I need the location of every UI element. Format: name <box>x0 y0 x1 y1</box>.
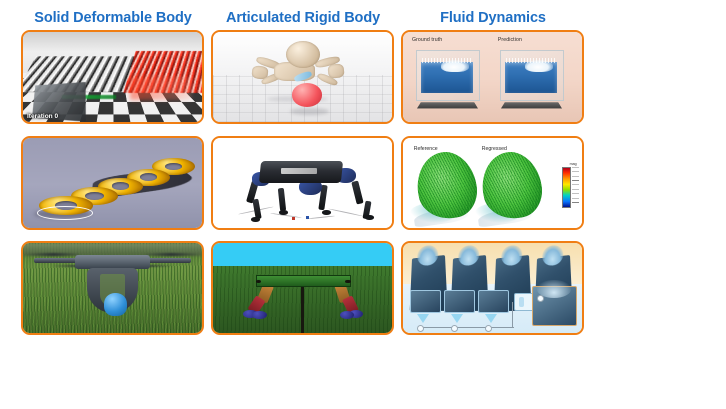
panel-streamline-flow-comparison[interactable]: Reference Regressed mag <box>401 136 584 230</box>
encoder-3-icon <box>485 314 497 323</box>
tank-prediction <box>496 47 568 112</box>
prediction-label: Prediction <box>498 37 522 43</box>
quadruped-foot-4 <box>365 215 374 220</box>
panel-humanoid-ragdoll[interactable] <box>211 30 394 124</box>
tank-scene: Ground truth Prediction <box>403 32 582 122</box>
colorbar-ticks <box>572 167 579 207</box>
tank-base-right <box>501 102 562 108</box>
colorbar <box>562 167 572 209</box>
colorbar-title: mag <box>570 162 577 166</box>
panel-fluid-splash-pipeline[interactable] <box>401 241 584 335</box>
pipeline-link-horizontal <box>421 327 514 328</box>
reference-label: Reference <box>414 146 438 152</box>
tank-ground-truth <box>412 47 484 112</box>
pipeline-input-1 <box>410 290 441 314</box>
rotor-front-right <box>145 253 199 256</box>
column-header-solid-deformable-body: Solid Deformable Body <box>18 9 208 27</box>
pipeline-scene <box>403 243 582 333</box>
contact-marker-red <box>292 217 295 220</box>
torus-target-ring <box>37 206 93 220</box>
panel-grid: Solid Deformable Body Articulated Rigid … <box>0 0 726 409</box>
column-header-articulated-rigid-body: Articulated Rigid Body <box>208 9 398 27</box>
cloth-red-glow <box>130 77 191 100</box>
panel-deformable-torus-bounce[interactable] <box>21 136 204 230</box>
pipeline-output-frame <box>532 286 577 326</box>
tank-spray-left <box>422 58 472 63</box>
quadruped-foot-2 <box>279 210 288 215</box>
flow-scene: Reference Regressed mag <box>403 138 582 228</box>
panel-checkerboard-cloth-simulation[interactable]: Iteration 0 <box>21 30 204 124</box>
panel-planar-biped-walker[interactable] <box>211 241 394 335</box>
pipeline-link-vertical <box>512 302 513 326</box>
red-ball <box>292 83 322 106</box>
encoder-2-icon <box>451 314 463 323</box>
pipeline-input-3 <box>478 290 509 314</box>
ground-truth-label: Ground truth <box>412 37 442 43</box>
drone-body <box>75 255 150 269</box>
grasped-blue-object <box>104 293 127 316</box>
contact-marker-blue <box>306 216 309 219</box>
quadruped-foot-1 <box>251 217 260 222</box>
anymal-logo <box>281 168 317 174</box>
panel-anymal-quadruped[interactable] <box>211 136 394 230</box>
ball-shadow <box>290 108 329 115</box>
biped-scene <box>213 243 392 333</box>
rotor-front-left <box>27 253 81 256</box>
sky <box>213 243 392 266</box>
humanoid-scene <box>213 32 392 122</box>
panel-fluid-tank-comparison[interactable]: Ground truth Prediction <box>401 30 584 124</box>
tank-base-left <box>417 102 478 108</box>
iteration-label: Iteration 0 <box>27 113 58 120</box>
encoder-1-icon <box>417 314 429 323</box>
tank-spray-right <box>506 58 556 63</box>
biped-torso <box>256 275 351 287</box>
drone-scene <box>23 243 202 333</box>
quadruped-scene <box>213 138 392 228</box>
quadruped-foot-3 <box>322 210 331 215</box>
panel-drone-soft-gripper[interactable] <box>21 241 204 335</box>
pipeline-input-2 <box>444 290 475 314</box>
column-header-fluid-dynamics: Fluid Dynamics <box>398 9 588 27</box>
center-post <box>301 284 304 334</box>
torus-scene <box>23 138 202 228</box>
regressed-label: Regressed <box>482 146 507 152</box>
cloth-scene: Iteration 0 <box>23 32 202 122</box>
